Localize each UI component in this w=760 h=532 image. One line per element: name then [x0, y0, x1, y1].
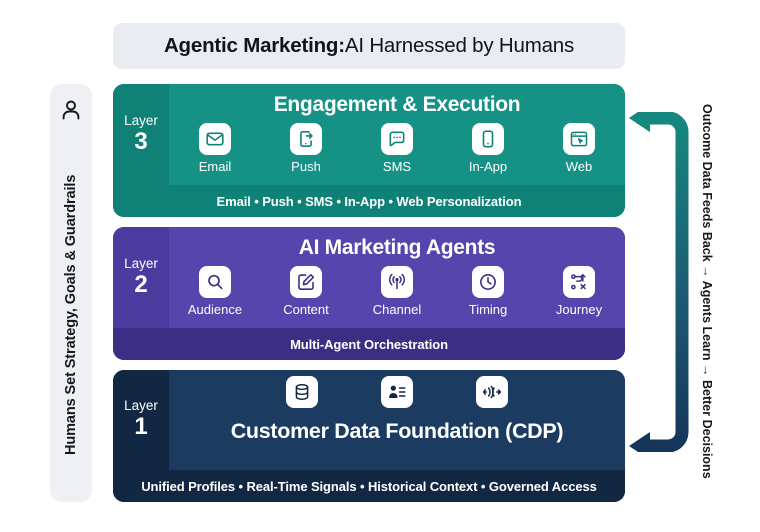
channel-item-inapp[interactable]: In-App [459, 123, 517, 174]
layer-card-2-body: Layer 2 AI Marketing Agents Audience [113, 227, 625, 360]
agent-item-audience[interactable]: Audience [186, 266, 244, 317]
chat-bubble-icon [381, 123, 413, 155]
layer-badge-2-word: Layer [124, 257, 158, 271]
cdp-item-database[interactable] [273, 376, 331, 412]
layer-card-2: Layer 2 AI Marketing Agents Audience [113, 227, 625, 360]
layer-badge-1-word: Layer [124, 399, 158, 413]
feedback-loop-arrow [628, 112, 694, 452]
agent-item-journey-label: Journey [556, 302, 602, 317]
page-title: Agentic Marketing: AI Harnessed by Human… [113, 23, 625, 69]
layer-card-3-body: Layer 3 Engagement & Execution Email [113, 84, 625, 217]
agent-item-channel-label: Channel [373, 302, 421, 317]
channel-item-email-label: Email [199, 159, 232, 174]
database-icon [286, 376, 318, 408]
journey-path-icon [563, 266, 595, 298]
browser-window-icon [563, 123, 595, 155]
layer-1-heading: Customer Data Foundation (CDP) [169, 419, 625, 444]
channel-item-push-label: Push [291, 159, 321, 174]
layer-2-heading: AI Marketing Agents [169, 227, 625, 260]
magnifier-icon [199, 266, 231, 298]
cdp-item-profile[interactable] [368, 376, 426, 412]
layer-badge-3: Layer 3 [113, 84, 169, 185]
envelope-icon [199, 123, 231, 155]
signal-pulse-icon [476, 376, 508, 408]
humans-rail: Humans Set Strategy, Goals & Guardrails [50, 84, 92, 502]
layer-badge-1: Layer 1 [113, 370, 169, 470]
agent-item-journey[interactable]: Journey [550, 266, 608, 317]
layer-1-main: Customer Data Foundation (CDP) [169, 370, 625, 470]
layer-3-main: Engagement & Execution Email [169, 84, 625, 185]
layer-1-footer: Unified Profiles • Real-Time Signals • H… [113, 470, 625, 502]
page-title-rest: AI Harnessed by Humans [345, 34, 574, 58]
layer-badge-2-number: 2 [134, 272, 147, 298]
channel-item-web-label: Web [566, 159, 593, 174]
channel-item-sms[interactable]: SMS [368, 123, 426, 174]
cdp-item-signal[interactable] [463, 376, 521, 412]
channel-item-push[interactable]: Push [277, 123, 335, 174]
edit-pencil-icon [290, 266, 322, 298]
layer-badge-3-number: 3 [134, 129, 147, 155]
channel-item-sms-label: SMS [383, 159, 411, 174]
layer-2-footer: Multi-Agent Orchestration [113, 328, 625, 360]
layer-badge-1-number: 1 [134, 414, 147, 440]
channel-item-email[interactable]: Email [186, 123, 244, 174]
profile-list-icon [381, 376, 413, 408]
layer-card-3: Layer 3 Engagement & Execution Email [113, 84, 625, 217]
humans-rail-label: Humans Set Strategy, Goals & Guardrails [63, 122, 79, 502]
layer-3-footer: Email • Push • SMS • In-App • Web Person… [113, 185, 625, 217]
layer-2-main: AI Marketing Agents Audience [169, 227, 625, 328]
layer-2-icon-row: Audience Content [169, 266, 625, 317]
layer-badge-2: Layer 2 [113, 227, 169, 328]
channel-item-inapp-label: In-App [469, 159, 507, 174]
page-title-strong: Agentic Marketing: [164, 34, 345, 58]
layer-1-icon-row [169, 376, 625, 412]
layer-card-1-body: Layer 1 [113, 370, 625, 502]
person-icon [59, 98, 83, 122]
channel-item-web[interactable]: Web [550, 123, 608, 174]
layer-badge-3-word: Layer [124, 114, 158, 128]
mobile-phone-icon [472, 123, 504, 155]
layer-3-icon-row: Email Push [169, 123, 625, 174]
layer-3-heading: Engagement & Execution [169, 84, 625, 117]
layer-card-1: Layer 1 [113, 370, 625, 502]
push-notification-icon [290, 123, 322, 155]
clock-icon [472, 266, 504, 298]
feedback-loop-label: Outcome Data Feeds Back → Agents Learn →… [696, 95, 718, 487]
agent-item-content[interactable]: Content [277, 266, 335, 317]
diagram-canvas: Agentic Marketing: AI Harnessed by Human… [0, 0, 760, 532]
agent-item-timing[interactable]: Timing [459, 266, 517, 317]
agent-item-timing-label: Timing [469, 302, 508, 317]
agent-item-audience-label: Audience [188, 302, 242, 317]
agent-item-content-label: Content [283, 302, 329, 317]
broadcast-antenna-icon [381, 266, 413, 298]
agent-item-channel[interactable]: Channel [368, 266, 426, 317]
